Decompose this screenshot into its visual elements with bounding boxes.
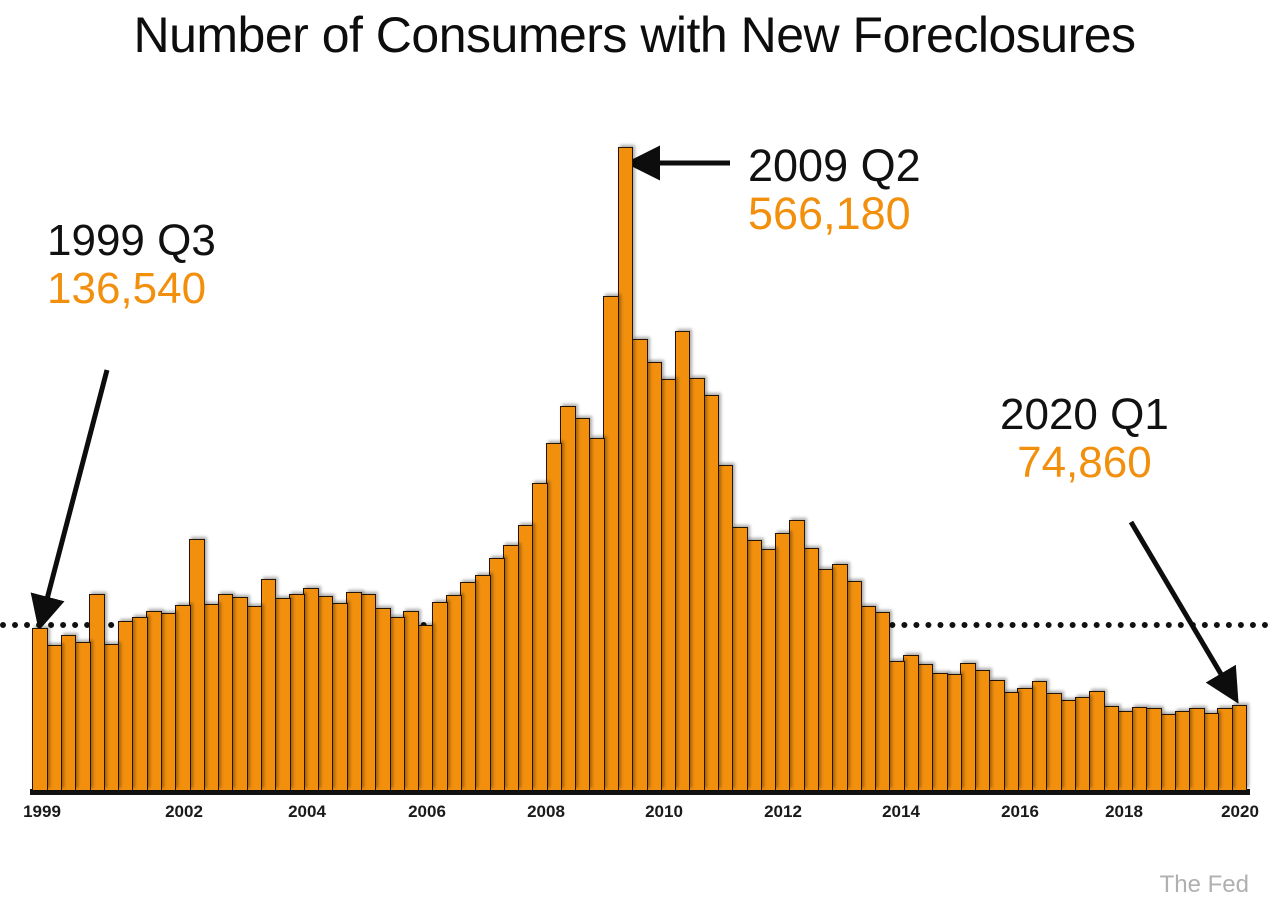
bar [318,596,334,790]
bar [375,608,391,790]
bar [89,594,105,790]
annotation-2020q1: 2020 Q1 74,860 [1000,392,1169,487]
bar [989,680,1005,790]
bar [1046,693,1062,790]
bar [703,395,719,790]
x-tick-label: 2014 [882,802,920,822]
bar [546,443,562,790]
bar [603,296,619,790]
bar [275,598,291,790]
bar [1232,705,1248,790]
bar [1060,700,1076,790]
bar [589,438,605,790]
bar [460,582,476,790]
bar [289,594,305,790]
annotation-2009q2: 2009 Q2 566,180 [748,142,921,240]
bar [1075,697,1091,790]
bar [132,617,148,790]
bar [689,378,705,790]
bar [975,670,991,790]
x-tick-label: 2010 [645,802,683,822]
x-axis-tick-labels: 1999200220042006200820102012201420162018… [0,802,1269,832]
bar [1017,688,1033,790]
source-credit: The Fed [1160,871,1249,899]
bar [560,406,576,790]
bar [232,597,248,790]
bar [518,525,534,790]
bar [1146,708,1162,790]
bar [632,339,648,790]
bar [1217,708,1233,790]
bar [261,579,277,790]
bar [146,611,162,790]
bar [1160,714,1176,790]
annotation-2020q1-value: 74,860 [1000,438,1169,487]
annotation-2020q1-title: 2020 Q1 [1000,392,1169,438]
bar [875,612,891,790]
bar [346,592,362,790]
x-tick-label: 2002 [165,802,203,822]
bar [503,545,519,790]
bar [103,644,119,790]
bar [775,533,791,790]
bar [946,674,962,790]
bar [575,418,591,790]
bar [1032,681,1048,790]
bar [1175,711,1191,790]
bar [61,635,77,790]
bar [532,483,548,790]
bar [175,605,191,790]
bar [189,539,205,790]
bar [403,611,419,790]
bar [732,527,748,790]
x-tick-label: 1999 [23,802,61,822]
bar [446,595,462,790]
x-tick-label: 2006 [408,802,446,822]
bar [1003,692,1019,790]
x-tick-label: 2004 [288,802,326,822]
bar [660,379,676,790]
bar [218,594,234,790]
bar [846,581,862,790]
bar [889,661,905,790]
annotation-1999q3-value: 136,540 [47,264,216,313]
bar [675,331,691,790]
bar [75,642,91,790]
bar [960,663,976,790]
bar [932,673,948,790]
bar [489,558,505,790]
annotation-1999q3: 1999 Q3 136,540 [47,218,216,313]
bar [860,606,876,790]
chart-canvas: Number of Consumers with New Foreclosure… [0,0,1269,919]
annotation-1999q3-title: 1999 Q3 [47,218,216,264]
bar [475,575,491,790]
bar [1089,691,1105,790]
bar [903,655,919,790]
bar [832,564,848,790]
bar [718,465,734,790]
bar [360,594,376,790]
bar [1132,707,1148,790]
bar [789,520,805,790]
bar [1203,713,1219,790]
annotation-2009q2-value: 566,180 [748,189,921,239]
bar [817,569,833,790]
bar [332,603,348,790]
bar [1189,708,1205,790]
bar [746,540,762,790]
bar [389,617,405,790]
bar [1103,706,1119,790]
bar [32,628,48,790]
bar [917,664,933,790]
x-tick-label: 2016 [1001,802,1039,822]
x-tick-label: 2008 [527,802,565,822]
page-title: Number of Consumers with New Foreclosure… [0,6,1269,64]
bar [618,147,634,790]
bar [118,621,134,790]
bar [418,625,434,790]
bar [46,645,62,790]
bar [803,548,819,790]
bar [760,549,776,790]
bar [161,613,177,790]
annotation-2009q2-title: 2009 Q2 [748,142,921,189]
bar [1117,711,1133,790]
x-tick-label: 2018 [1105,802,1143,822]
bar [246,606,262,790]
x-tick-label: 2012 [764,802,802,822]
x-tick-label: 2020 [1221,802,1259,822]
bar [303,588,319,790]
bar [203,604,219,790]
bar [646,362,662,790]
bar [432,602,448,791]
